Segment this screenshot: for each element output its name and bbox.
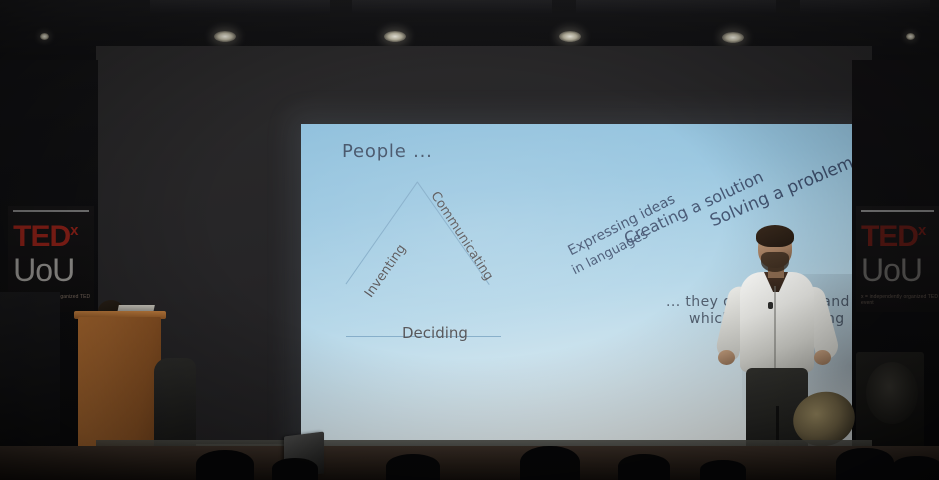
ceiling-panel bbox=[150, 0, 330, 14]
tedx-banner-right: TEDx UoU x = independently organized TED… bbox=[856, 206, 939, 312]
slide-title: People ... bbox=[342, 141, 433, 162]
triangle-diagram: Inventing Communicating Deciding bbox=[356, 174, 531, 354]
tedx-superscript-x: x bbox=[918, 222, 925, 239]
ceiling-panel bbox=[800, 0, 930, 14]
triangle-label-communicating: Communicating bbox=[427, 189, 496, 283]
banner-rule bbox=[13, 210, 89, 212]
ceiling-panel bbox=[576, 0, 776, 14]
tedx-logo-text: TEDx bbox=[861, 222, 925, 252]
audience-head bbox=[520, 446, 580, 480]
presenter-beard bbox=[761, 252, 789, 272]
ceiling-spotlight-icon bbox=[384, 31, 406, 42]
presenter-left-hand bbox=[718, 350, 735, 365]
presenter-shirt-placket bbox=[774, 286, 776, 370]
lapel-microphone-icon bbox=[768, 302, 773, 309]
ted-wordmark: TED bbox=[13, 220, 70, 253]
ted-wordmark: TED bbox=[861, 220, 918, 253]
ceiling-panel bbox=[352, 0, 552, 14]
tedx-logo-text: TEDx bbox=[13, 222, 77, 252]
ceiling-spotlight-icon bbox=[214, 31, 236, 42]
ceiling-spotlight-icon bbox=[559, 31, 581, 42]
presenter-hair bbox=[756, 225, 794, 247]
banner-tagline: x = independently organized TED event bbox=[861, 294, 939, 306]
audience-head bbox=[272, 458, 318, 480]
presenter-right-hand bbox=[814, 350, 831, 365]
audience-head bbox=[196, 450, 254, 480]
audience-head bbox=[386, 454, 440, 480]
banner-org-name: UoU bbox=[861, 254, 922, 286]
tedx-superscript-x: x bbox=[70, 222, 77, 239]
banner-org-name: UoU bbox=[13, 254, 74, 286]
speaker-cone bbox=[866, 362, 918, 424]
ceiling-spotlight-icon bbox=[40, 33, 49, 40]
ceiling-spotlight-icon bbox=[906, 33, 915, 40]
audience-head bbox=[618, 454, 670, 480]
audience-head bbox=[700, 460, 746, 480]
audience-head bbox=[836, 448, 894, 480]
pa-speaker-cabinet-left bbox=[0, 292, 60, 452]
ceiling-spotlight-icon bbox=[722, 32, 744, 43]
banner-rule bbox=[861, 210, 934, 212]
stage-floor bbox=[0, 446, 939, 480]
tedx-talk-photo: People ... Inventing Communicating Decid… bbox=[0, 0, 939, 480]
triangle-label-deciding: Deciding bbox=[402, 324, 468, 342]
audience-head bbox=[892, 456, 939, 480]
